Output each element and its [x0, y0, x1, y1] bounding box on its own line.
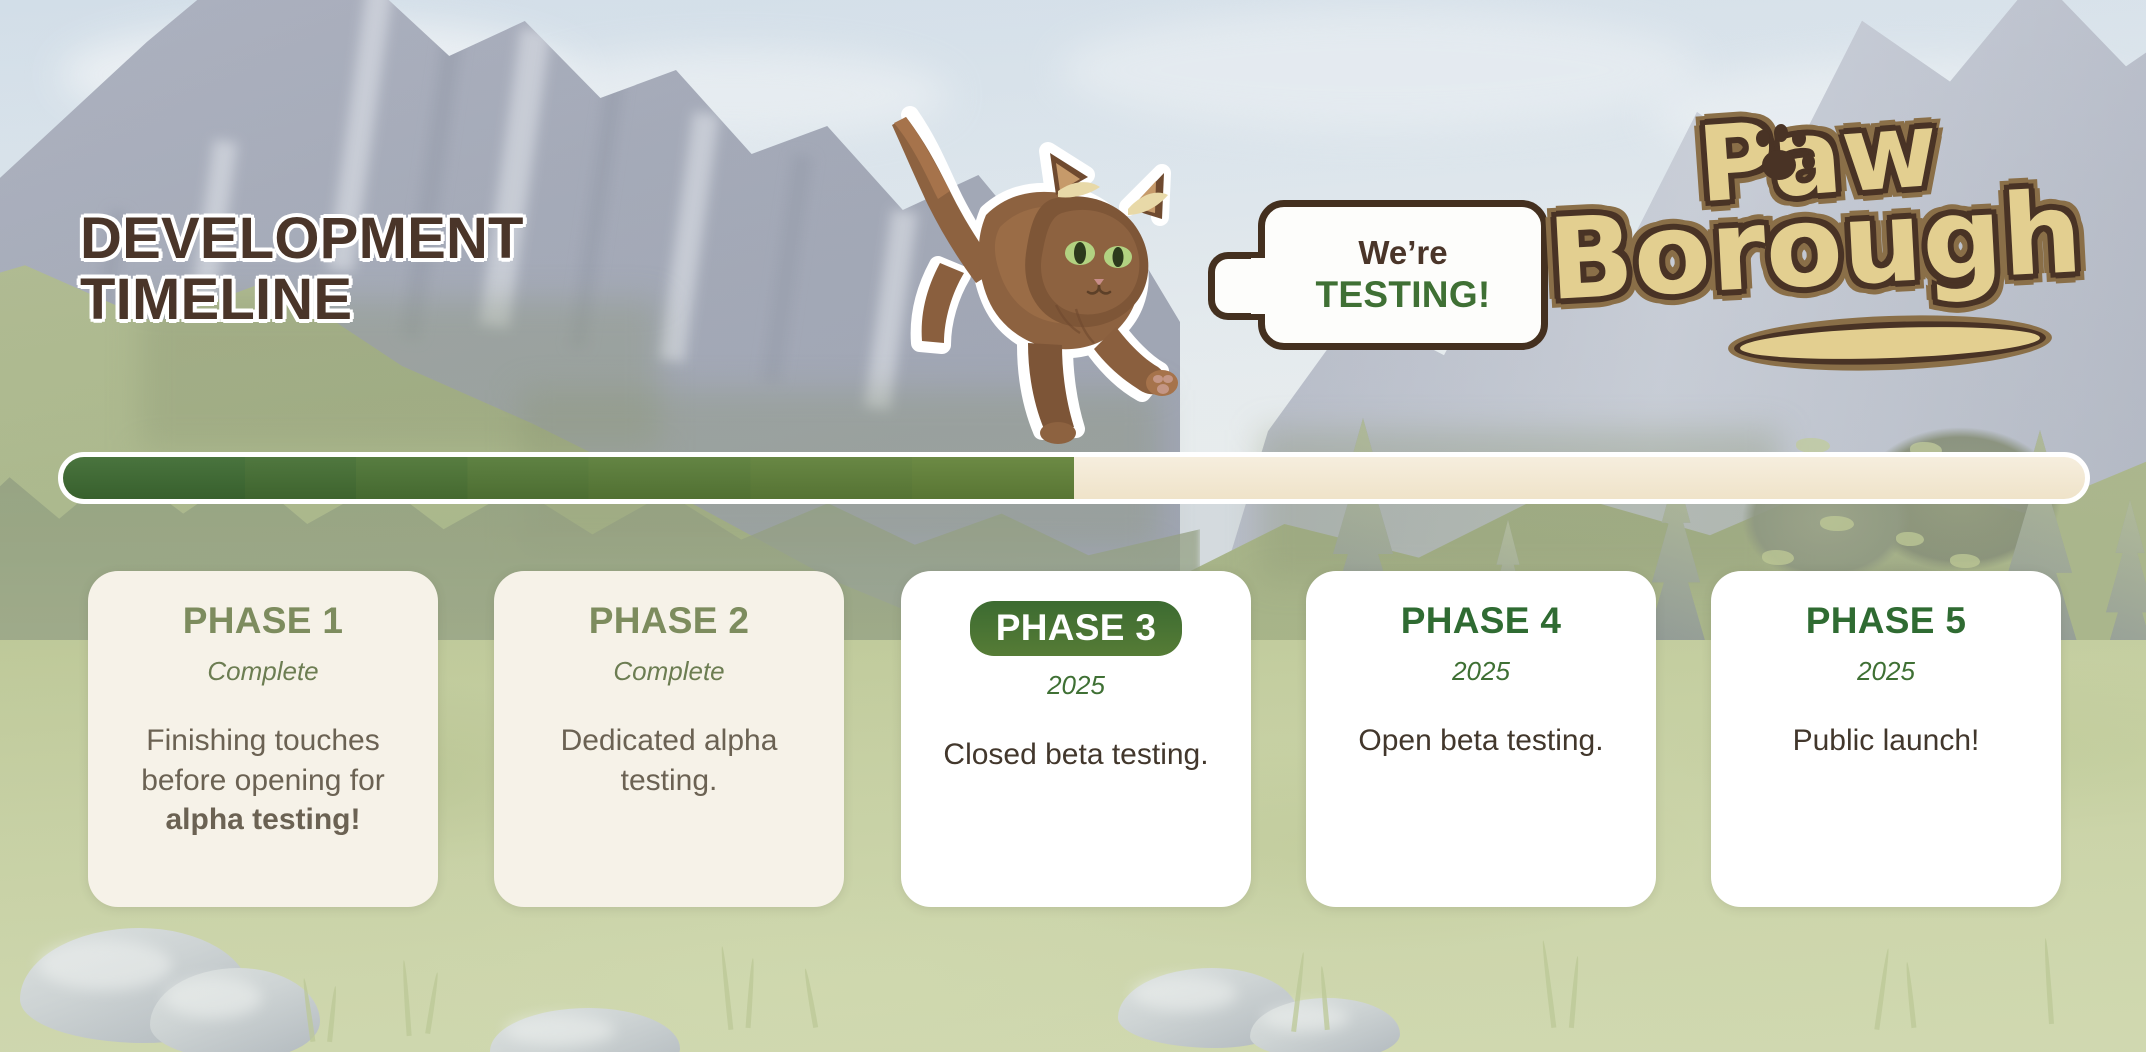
phase-card-row: PHASE 1 Complete Finishing touches befor…: [0, 571, 2146, 911]
development-timeline-banner: DEVELOPMENT TIMELINE: [0, 0, 2146, 1052]
phase-5-year: 2025: [1737, 656, 2035, 687]
speech-line-2: TESTING!: [1315, 274, 1490, 316]
phase-1-description: Finishing touches before opening for alp…: [114, 721, 412, 841]
phase-card-3[interactable]: PHASE 3 2025 Closed beta testing.: [901, 571, 1251, 907]
page-title: DEVELOPMENT TIMELINE: [80, 208, 524, 331]
logo-swash: [1740, 323, 2041, 363]
phase-1-status: Complete: [114, 656, 412, 687]
phase-2-description: Dedicated alpha testing.: [520, 721, 818, 801]
phase-1-heading: PHASE 1: [114, 601, 412, 642]
logo-word-borough: Borough: [1545, 168, 2085, 326]
progress-bar[interactable]: [58, 452, 2090, 504]
phase-5-heading: PHASE 5: [1737, 601, 2035, 642]
phase-card-1[interactable]: PHASE 1 Complete Finishing touches befor…: [88, 571, 438, 907]
phase-4-heading: PHASE 4: [1332, 601, 1630, 642]
phase-2-status: Complete: [520, 656, 818, 687]
phase-card-2[interactable]: PHASE 2 Complete Dedicated alpha testing…: [494, 571, 844, 907]
phase-card-5[interactable]: PHASE 5 2025 Public launch!: [1711, 571, 2061, 907]
phase-2-heading: PHASE 2: [520, 601, 818, 642]
progress-bar-fill: [63, 457, 1074, 499]
phase-card-4[interactable]: PHASE 4 2025 Open beta testing.: [1306, 571, 1656, 907]
phase-3-year: 2025: [927, 670, 1225, 701]
speech-line-1: We’re: [1358, 234, 1447, 272]
phase-4-year: 2025: [1332, 656, 1630, 687]
phase-5-description: Public launch!: [1737, 721, 2035, 761]
speech-bubble: We’re TESTING!: [1258, 200, 1548, 350]
paw-borough-logo: Paw Borough: [1558, 96, 2098, 376]
phase-3-heading-badge: PHASE 3: [970, 601, 1182, 656]
phase-4-description: Open beta testing.: [1332, 721, 1630, 761]
cat-mascot-illustration: [880, 95, 1180, 445]
phase-3-description: Closed beta testing.: [927, 735, 1225, 775]
